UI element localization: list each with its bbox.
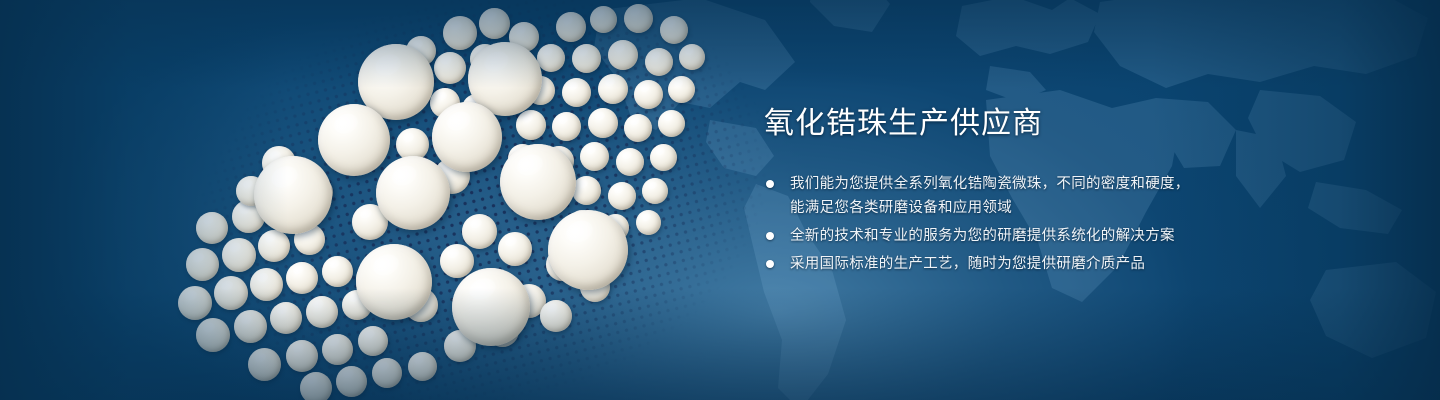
bullet-line-secondary: 能满足您各类研磨设备和应用领域 xyxy=(790,196,1364,220)
list-item: 采用国际标准的生产工艺，随时为您提供研磨介质产品 xyxy=(764,252,1364,276)
dot-bullet-icon xyxy=(766,232,774,240)
banner-copy: 氧化锆珠生产供应商 我们能为您提供全系列氧化锆陶瓷微珠，不同的密度和硬度， 能满… xyxy=(764,104,1364,280)
bullet-line-primary: 采用国际标准的生产工艺，随时为您提供研磨介质产品 xyxy=(790,256,1145,272)
dot-bullet-icon xyxy=(766,180,774,188)
bullet-line-primary: 全新的技术和专业的服务为您的研磨提供系统化的解决方案 xyxy=(790,228,1175,244)
hero-banner: 氧化锆珠生产供应商 我们能为您提供全系列氧化锆陶瓷微珠，不同的密度和硬度， 能满… xyxy=(0,0,1440,400)
list-item: 全新的技术和专业的服务为您的研磨提供系统化的解决方案 xyxy=(764,224,1364,248)
benefits-list: 我们能为您提供全系列氧化锆陶瓷微珠，不同的密度和硬度， 能满足您各类研磨设备和应… xyxy=(764,172,1364,276)
list-item: 我们能为您提供全系列氧化锆陶瓷微珠，不同的密度和硬度， 能满足您各类研磨设备和应… xyxy=(764,172,1364,220)
dot-bullet-icon xyxy=(766,260,774,268)
banner-headline: 氧化锆珠生产供应商 xyxy=(764,104,1364,144)
bullet-line-primary: 我们能为您提供全系列氧化锆陶瓷微珠，不同的密度和硬度， xyxy=(790,176,1190,192)
